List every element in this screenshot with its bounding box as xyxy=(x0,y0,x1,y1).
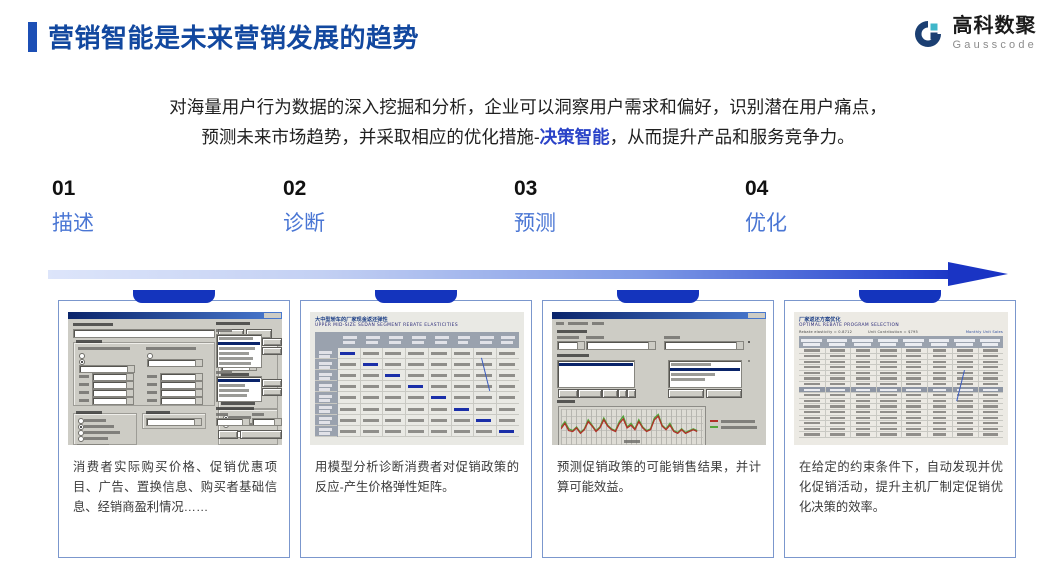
card-tab-icon xyxy=(375,290,457,303)
page-title: 营销智能是未来营销发展的趋势 xyxy=(28,18,419,55)
step-item-04: 04 优化 xyxy=(745,178,976,234)
logo-name-cn: 高科数聚 xyxy=(953,16,1037,36)
paragraph-highlight: 决策智能 xyxy=(540,127,610,147)
opt-title-cn: 厂家返还方案优化 xyxy=(799,316,841,323)
card-tab-icon xyxy=(859,290,941,303)
step-number: 02 xyxy=(283,178,514,199)
intro-paragraph: 对海量用户行为数据的深入挖掘和分析，企业可以洞察用户需求和偏好，识别潜在用户痛点… xyxy=(48,92,1008,152)
card-tab-icon xyxy=(133,290,215,303)
step-item-03: 03 预测 xyxy=(514,178,745,234)
paragraph-line-2-post: ，从而提升产品和服务竞争力。 xyxy=(610,127,855,147)
card-screenshot-optimization-table: 厂家返还方案优化 OPTIMAL REBATE PROGRAM SELECTIO… xyxy=(794,312,1008,445)
card-describe[interactable]: 消费者实际购买价格、促销优惠项目、广告、置换信息、购买者基础信息、经销商盈利情况… xyxy=(58,300,290,558)
step-label: 描述 xyxy=(52,213,283,234)
brand-logo: 高科数聚 Gausscode xyxy=(912,16,1037,51)
step-label: 预测 xyxy=(514,213,745,234)
opt-meta-left: Rebate elasticity = 0.8712 xyxy=(799,330,852,334)
step-item-01: 01 描述 xyxy=(52,178,283,234)
slide-root: 营销智能是未来营销发展的趋势 高科数聚 Gausscode 对海量用户行为数据的… xyxy=(0,0,1051,586)
progress-arrow xyxy=(48,262,1008,286)
card-predict[interactable]: 预测促销政策的可能销售结果，并计算可能效益。 xyxy=(542,300,774,558)
step-number: 04 xyxy=(745,178,976,199)
arrow-head-icon xyxy=(948,262,1008,286)
paragraph-line-2-pre: 预测未来市场趋势，并采取相应的优化措施- xyxy=(201,127,539,147)
gausscode-logo-icon xyxy=(912,18,944,50)
step-label: 诊断 xyxy=(283,213,514,234)
card-screenshot-elasticity-matrix: 大中型轿车的厂家现金返还弹性 UPPER MID-SIZE SEDAN SEGM… xyxy=(310,312,524,445)
card-caption: 用模型分析诊断消费者对促销政策的反应-产生价格弹性矩阵。 xyxy=(315,457,519,497)
opt-meta-right: Monthly Unit Sales xyxy=(966,330,1003,334)
matrix-title-cn: 大中型轿车的厂家现金返还弹性 xyxy=(315,316,388,323)
card-caption: 在给定的约束条件下，自动发现并优化促销活动，提升主机厂制定促销优化决策的效率。 xyxy=(799,457,1003,517)
card-row: 消费者实际购买价格、促销优惠项目、广告、置换信息、购买者基础信息、经销商盈利情况… xyxy=(58,300,998,558)
logo-name-en: Gausscode xyxy=(953,40,1037,51)
step-label: 优化 xyxy=(745,213,976,234)
step-list: 01 描述 02 诊断 03 预测 04 优化 xyxy=(52,178,1012,234)
matrix-title-en: UPPER MID-SIZE SEDAN SEGMENT REBATE ELAS… xyxy=(315,323,458,328)
title-text: 营销智能是未来营销发展的趋势 xyxy=(48,18,419,55)
step-number: 03 xyxy=(514,178,745,199)
opt-title-en: OPTIMAL REBATE PROGRAM SELECTION xyxy=(799,323,899,328)
card-tab-icon xyxy=(617,290,699,303)
card-optimize[interactable]: 厂家返还方案优化 OPTIMAL REBATE PROGRAM SELECTIO… xyxy=(784,300,1016,558)
step-item-02: 02 诊断 xyxy=(283,178,514,234)
card-diagnose[interactable]: 大中型轿车的厂家现金返还弹性 UPPER MID-SIZE SEDAN SEGM… xyxy=(300,300,532,558)
paragraph-line-1: 对海量用户行为数据的深入挖掘和分析，企业可以洞察用户需求和偏好，识别潜在用户痛点… xyxy=(169,97,887,117)
card-caption: 消费者实际购买价格、促销优惠项目、广告、置换信息、购买者基础信息、经销商盈利情况… xyxy=(73,457,277,517)
opt-meta-mid: Unit Contribution = $795 xyxy=(868,330,918,334)
arrow-shaft xyxy=(48,270,960,279)
card-screenshot-simulation xyxy=(552,312,766,445)
step-number: 01 xyxy=(52,178,283,199)
card-screenshot-windows-dialog xyxy=(68,312,282,445)
title-accent-bar xyxy=(28,22,37,52)
card-caption: 预测促销政策的可能销售结果，并计算可能效益。 xyxy=(557,457,761,497)
